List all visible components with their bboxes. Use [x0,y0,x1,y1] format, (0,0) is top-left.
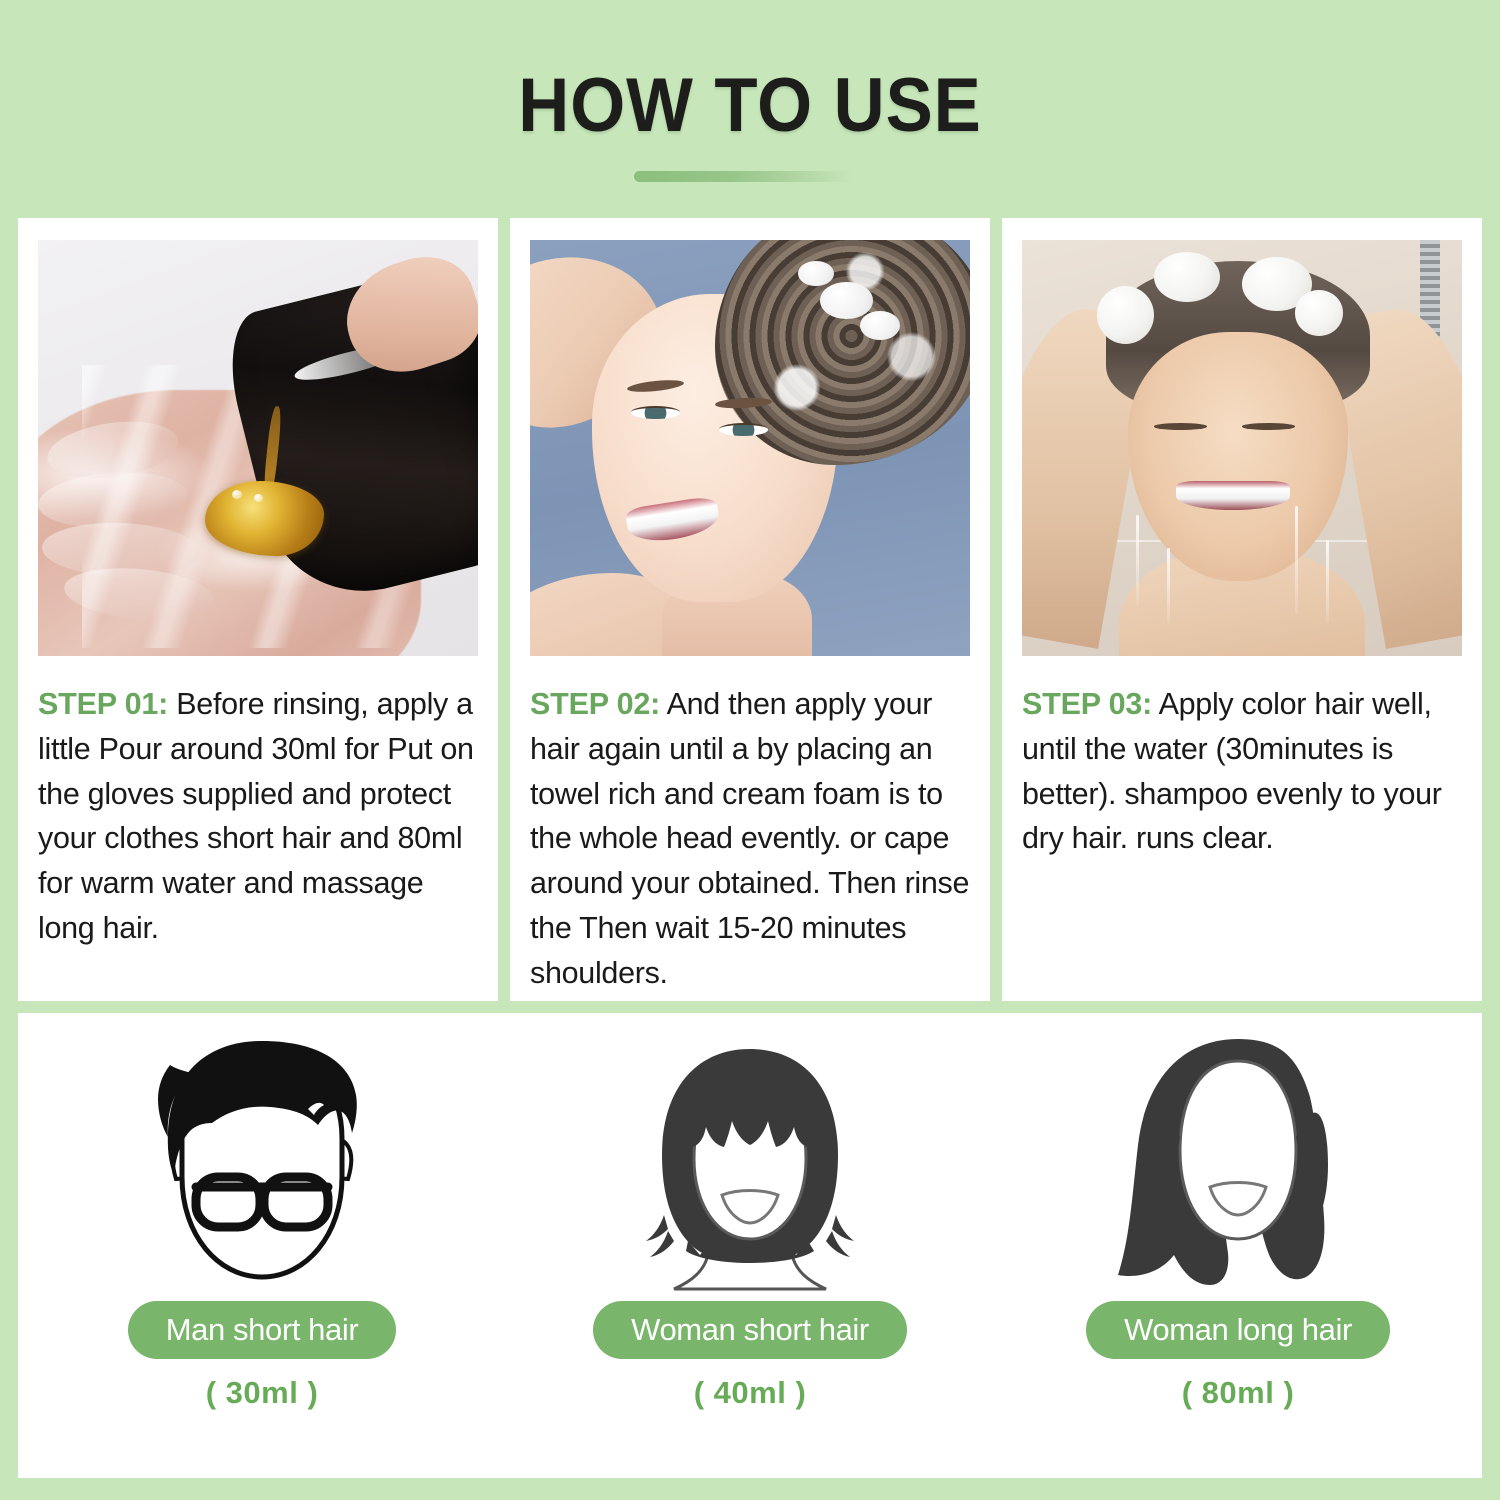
hair-option-volume-woman-long: ( 80ml ) [1182,1375,1295,1411]
step-card-03: STEP 03: Apply color hair well, until th… [1002,218,1482,1001]
step-text-01: STEP 01: Before rinsing, apply a little … [38,682,478,951]
step-photo-pouring-product-onto-gloved-hand [38,240,478,656]
hair-option-label-man-short: Man short hair [128,1301,397,1359]
hair-option-woman-short: Woman short hair ( 40ml ) [506,1013,994,1478]
hair-option-man-short: Man short hair ( 30ml ) [18,1013,506,1478]
steps-row: STEP 01: Before rinsing, apply a little … [18,218,1482,1001]
step-card-01: STEP 01: Before rinsing, apply a little … [18,218,498,1001]
woman-short-hair-icon [600,1027,900,1297]
hair-option-volume-man-short: ( 30ml ) [206,1375,319,1411]
step-photo-woman-lathering-hair [530,240,970,656]
title-underline-accent [634,171,852,182]
page-header: HOW TO USE [0,0,1500,218]
dosage-card: Man short hair ( 30ml ) Woman short hair… [18,1013,1482,1478]
woman-long-hair-icon [1088,1027,1388,1297]
hair-option-label-woman-short: Woman short hair [593,1301,907,1359]
step-body-02: And then apply your hair again until a b… [530,687,969,990]
hair-option-volume-woman-short: ( 40ml ) [694,1375,807,1411]
step-label-01: STEP 01: [38,687,168,721]
page-title: HOW TO USE [53,62,1448,149]
step-photo-woman-rinsing-hair-in-shower [1022,240,1462,656]
step-text-02: STEP 02: And then apply your hair again … [530,682,970,996]
step-card-02: STEP 02: And then apply your hair again … [510,218,990,1001]
hair-option-woman-long: Woman long hair ( 80ml ) [994,1013,1482,1478]
step-text-03: STEP 03: Apply color hair well, until th… [1022,682,1462,861]
step-label-02: STEP 02: [530,687,660,721]
man-short-hair-icon [112,1027,412,1297]
hair-option-label-woman-long: Woman long hair [1086,1301,1390,1359]
step-body-01: Before rinsing, apply a little Pour arou… [38,687,474,945]
step-label-03: STEP 03: [1022,687,1152,721]
